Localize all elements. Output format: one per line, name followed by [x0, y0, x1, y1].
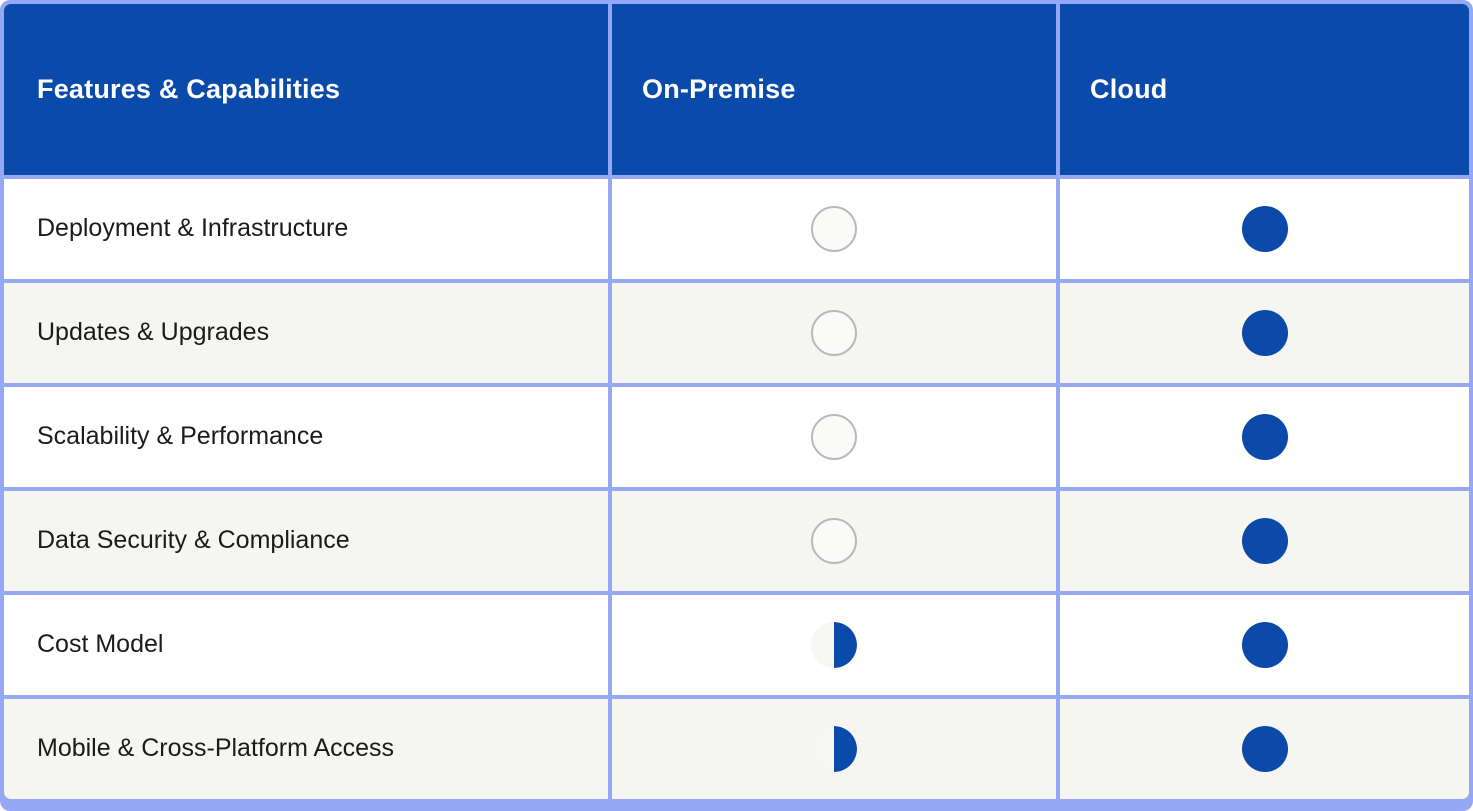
cloud-rating-cell [1060, 283, 1469, 383]
cloud-rating-cell [1060, 387, 1469, 487]
column-header-cloud-label: Cloud [1090, 73, 1167, 105]
feature-label: Data Security & Compliance [37, 525, 350, 556]
on-premise-rating-cell [612, 595, 1056, 695]
filled-circle-icon [1242, 726, 1288, 772]
feature-cell: Scalability & Performance [4, 387, 608, 487]
feature-cell: Deployment & Infrastructure [4, 179, 608, 279]
feature-label: Updates & Upgrades [37, 317, 269, 348]
on-premise-rating-cell [612, 699, 1056, 799]
cloud-rating-cell [1060, 699, 1469, 799]
filled-circle-icon [1242, 206, 1288, 252]
table-row: Data Security & Compliance [4, 491, 1469, 591]
filled-circle-icon [1242, 518, 1288, 564]
filled-circle-icon [1242, 414, 1288, 460]
column-header-feature-label: Features & Capabilities [37, 73, 340, 105]
filled-circle-icon [1242, 310, 1288, 356]
feature-label: Scalability & Performance [37, 421, 323, 452]
empty-circle-icon [811, 310, 857, 356]
table-row: Scalability & Performance [4, 387, 1469, 487]
feature-label: Mobile & Cross-Platform Access [37, 733, 394, 764]
half-filled-circle-icon [811, 726, 857, 772]
cloud-rating-cell [1060, 179, 1469, 279]
half-filled-circle-icon [811, 622, 857, 668]
on-premise-rating-cell [612, 387, 1056, 487]
feature-cell: Updates & Upgrades [4, 283, 608, 383]
table-row: Mobile & Cross-Platform Access [4, 699, 1469, 799]
empty-circle-icon [811, 414, 857, 460]
feature-label: Deployment & Infrastructure [37, 213, 348, 244]
table-row: Cost Model [4, 595, 1469, 695]
table-row: Updates & Upgrades [4, 283, 1469, 383]
feature-cell: Mobile & Cross-Platform Access [4, 699, 608, 799]
table-header-row: Features & Capabilities On-Premise Cloud [4, 4, 1469, 175]
table-row: Deployment & Infrastructure [4, 179, 1469, 279]
column-header-on-premise: On-Premise [612, 4, 1056, 175]
feature-label: Cost Model [37, 629, 163, 660]
on-premise-rating-cell [612, 283, 1056, 383]
cloud-rating-cell [1060, 595, 1469, 695]
filled-circle-icon [1242, 622, 1288, 668]
comparison-table: Features & Capabilities On-Premise Cloud… [0, 0, 1473, 811]
empty-circle-icon [811, 206, 857, 252]
column-header-cloud: Cloud [1060, 4, 1469, 175]
on-premise-rating-cell [612, 491, 1056, 591]
column-header-feature: Features & Capabilities [4, 4, 608, 175]
empty-circle-icon [811, 518, 857, 564]
on-premise-rating-cell [612, 179, 1056, 279]
feature-cell: Data Security & Compliance [4, 491, 608, 591]
column-header-on-premise-label: On-Premise [642, 73, 796, 105]
cloud-rating-cell [1060, 491, 1469, 591]
feature-cell: Cost Model [4, 595, 608, 695]
